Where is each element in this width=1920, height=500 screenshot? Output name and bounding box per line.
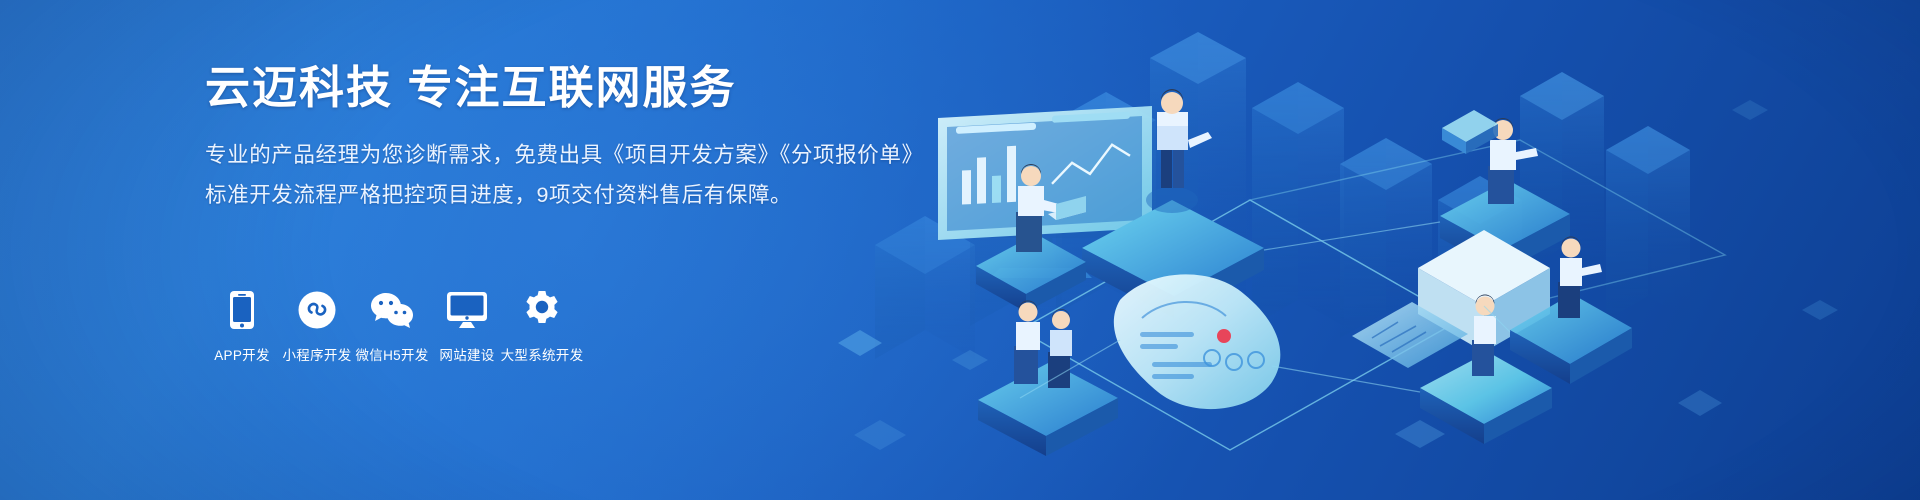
white-cube xyxy=(1418,230,1550,352)
gear-icon xyxy=(522,288,562,332)
central-pedestal xyxy=(1082,200,1264,318)
platform-wireframe xyxy=(1020,140,1725,450)
banner-subtitle: 专业的产品经理为您诊断需求，免费出具《项目开发方案》《分项报价单》 标准开发流程… xyxy=(205,136,925,216)
banner-subtitle-line-1: 专业的产品经理为您诊断需求，免费出具《项目开发方案》《分项报价单》 xyxy=(205,136,925,176)
service-item-website[interactable]: 网站建设 xyxy=(430,288,504,364)
service-label-website: 网站建设 xyxy=(439,344,494,364)
person-on-steps-right xyxy=(1510,237,1632,385)
service-item-app[interactable]: APP开发 xyxy=(205,288,279,364)
service-label-app: APP开发 xyxy=(214,344,270,364)
connector-lines xyxy=(1020,222,1510,398)
floating-tag xyxy=(1442,110,1498,154)
person-with-laptop-left xyxy=(976,164,1086,312)
service-label-wechat: 微信H5开发 xyxy=(355,344,428,364)
banner-title: 云迈科技 专注互联网服务 xyxy=(205,62,925,114)
person-bottom-right xyxy=(1420,295,1552,445)
banner-subtitle-line-2: 标准开发流程严格把控项目进度，9项交付资料售后有保障。 xyxy=(205,176,925,216)
miniprogram-icon xyxy=(298,288,336,332)
floating-diamonds xyxy=(838,100,1838,450)
isometric-illustration xyxy=(820,0,1920,500)
background-buildings xyxy=(875,32,1690,359)
banner-content: 云迈科技 专注互联网服务 专业的产品经理为您诊断需求，免费出具《项目开发方案》《… xyxy=(205,62,925,215)
dashboard-screen xyxy=(938,106,1152,278)
person-standing-center xyxy=(1146,89,1212,213)
person-on-cube-right xyxy=(1440,118,1570,272)
service-item-system[interactable]: 大型系统开发 xyxy=(505,288,579,364)
service-item-miniprogram[interactable]: 小程序开发 xyxy=(280,288,354,364)
smartphone-icon xyxy=(229,288,255,332)
service-label-miniprogram: 小程序开发 xyxy=(283,344,352,364)
hero-banner: 云迈科技 专注互联网服务 专业的产品经理为您诊断需求，免费出具《项目开发方案》《… xyxy=(0,0,1920,500)
person-group-lower-left xyxy=(978,301,1118,457)
data-ribbon xyxy=(1114,274,1281,409)
service-item-wechat[interactable]: 微信H5开发 xyxy=(355,288,429,364)
wechat-icon xyxy=(370,288,414,332)
service-list: APP开发 小程序开发 xyxy=(205,288,580,364)
service-label-system: 大型系统开发 xyxy=(501,344,584,364)
glass-card-right xyxy=(1352,302,1468,368)
monitor-icon xyxy=(446,288,488,332)
